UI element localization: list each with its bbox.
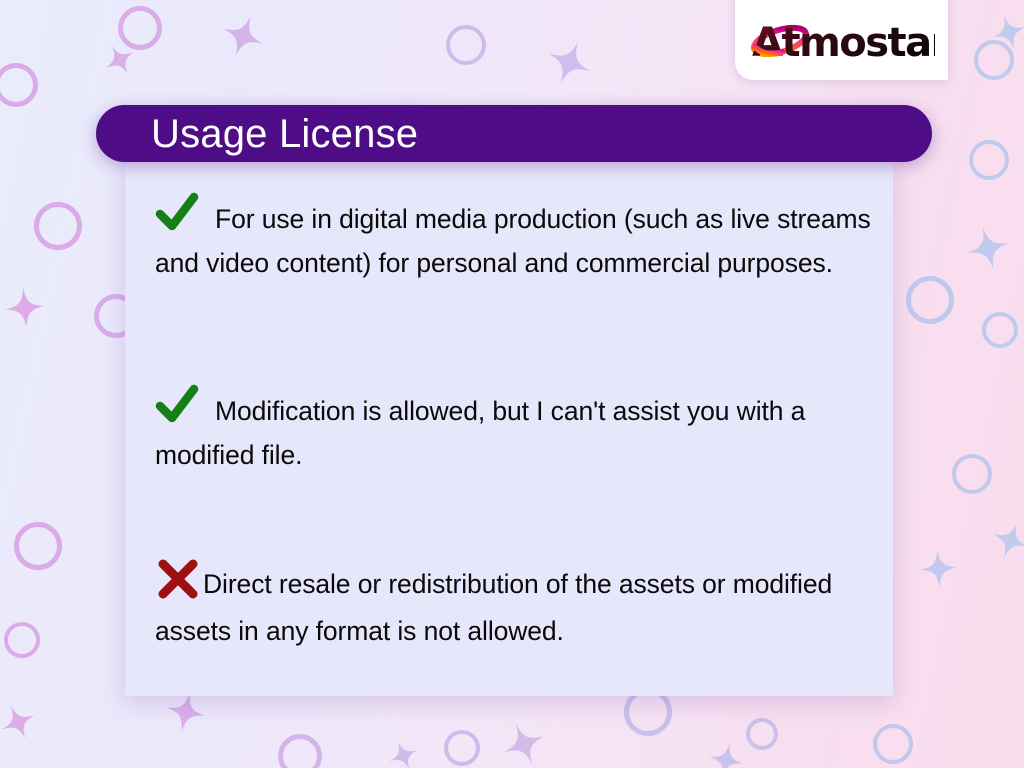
- decor-circle-icon: [118, 6, 162, 50]
- decor-sparkle-icon: [165, 691, 207, 733]
- license-item-text-0: For use in digital media production (suc…: [155, 190, 871, 283]
- decor-circle-icon: [444, 730, 480, 766]
- decor-circle-icon: [0, 63, 38, 107]
- license-item-text-1: Modification is allowed, but I can't ass…: [155, 382, 871, 475]
- decor-sparkle-icon: [221, 14, 265, 58]
- check-icon: [155, 190, 199, 244]
- decor-sparkle-icon: [502, 722, 546, 766]
- decor-circle-icon: [14, 522, 62, 570]
- license-text-2: Direct resale or redistribution of the a…: [155, 569, 832, 646]
- usage-license-header-pill: Usage License: [96, 105, 932, 162]
- decor-circle-icon: [969, 140, 1009, 180]
- license-item: Direct resale or redistribution of the a…: [155, 556, 871, 651]
- svg-text:Atmostar: Atmostar: [752, 20, 935, 66]
- cross-icon: [155, 556, 201, 612]
- decor-circle-icon: [446, 25, 486, 65]
- atmostar-wordmark-icon: Atmostar: [749, 16, 935, 68]
- decor-circle-icon: [974, 40, 1014, 80]
- decor-sparkle-icon: [991, 14, 1024, 50]
- page-title: Usage License: [151, 114, 418, 154]
- decor-sparkle-icon: [991, 521, 1024, 560]
- decor-sparkle-icon: [4, 287, 46, 329]
- decor-circle-icon: [746, 718, 778, 750]
- decor-sparkle-icon: [388, 740, 419, 768]
- decor-sparkle-icon: [103, 43, 137, 77]
- decor-circle-icon: [952, 454, 992, 494]
- license-slide: Atmostar For use in digital media produc…: [0, 0, 1024, 768]
- decor-circle-icon: [982, 312, 1018, 348]
- decor-sparkle-icon: [708, 742, 744, 768]
- license-item: Modification is allowed, but I can't ass…: [155, 382, 871, 475]
- license-content-card: For use in digital media production (suc…: [125, 160, 893, 696]
- decor-sparkle-icon: [919, 549, 958, 588]
- decor-circle-icon: [906, 276, 954, 324]
- decor-sparkle-icon: [0, 704, 36, 740]
- brand-logo-plate: Atmostar: [735, 0, 948, 80]
- license-item-text-2: Direct resale or redistribution of the a…: [155, 556, 871, 651]
- decor-circle-icon: [4, 622, 40, 658]
- decor-circle-icon: [34, 202, 82, 250]
- license-item: For use in digital media production (suc…: [155, 190, 871, 283]
- decor-sparkle-icon: [966, 226, 1010, 270]
- decor-circle-icon: [278, 734, 322, 768]
- decor-sparkle-icon: [546, 39, 593, 86]
- check-icon: [155, 382, 199, 436]
- decor-circle-icon: [873, 724, 913, 764]
- license-text-0: For use in digital media production (suc…: [155, 204, 871, 278]
- license-text-1: Modification is allowed, but I can't ass…: [155, 396, 805, 470]
